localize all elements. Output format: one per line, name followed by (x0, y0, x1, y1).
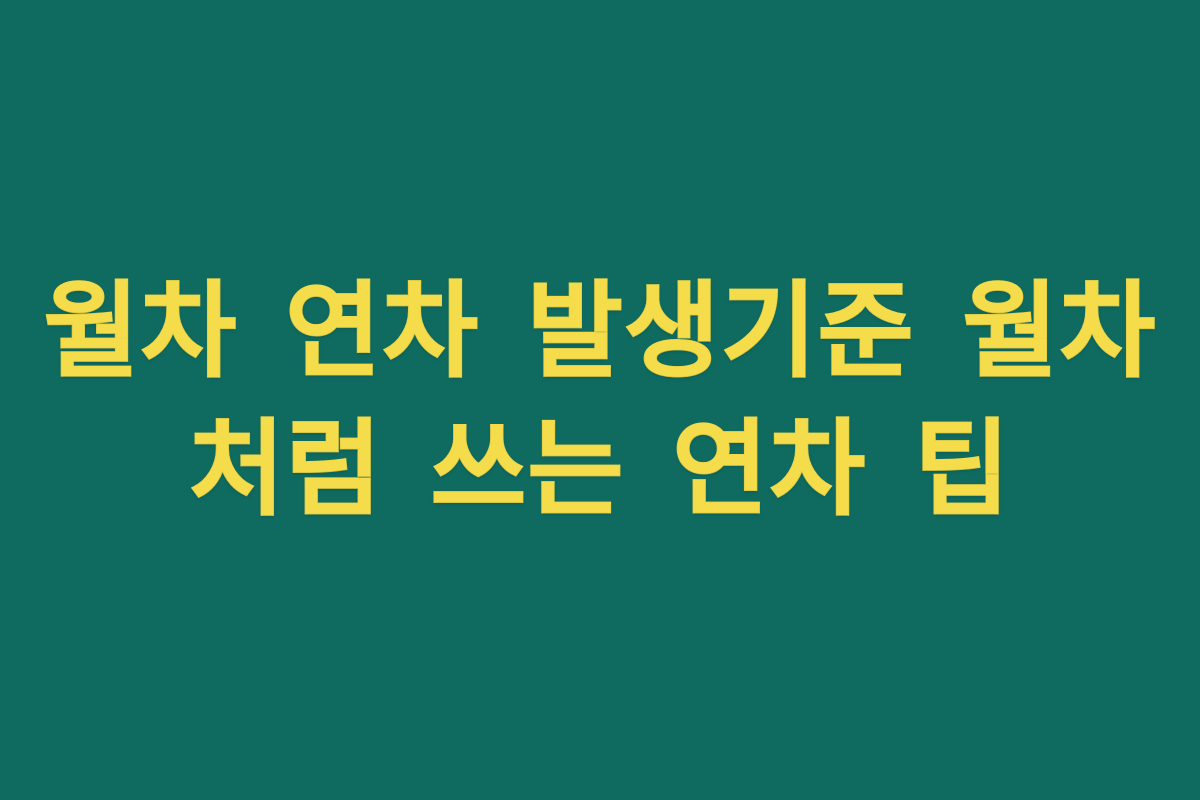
thumbnail-canvas: 월차 연차 발생기준 월차 처럼 쓰는 연차 팁 (0, 0, 1200, 800)
headline-block: 월차 연차 발생기준 월차 처럼 쓰는 연차 팁 (40, 262, 1160, 539)
headline-line-1: 월차 연차 발생기준 월차 (40, 262, 1160, 400)
headline-line-2: 처럼 쓰는 연차 팁 (40, 400, 1160, 538)
